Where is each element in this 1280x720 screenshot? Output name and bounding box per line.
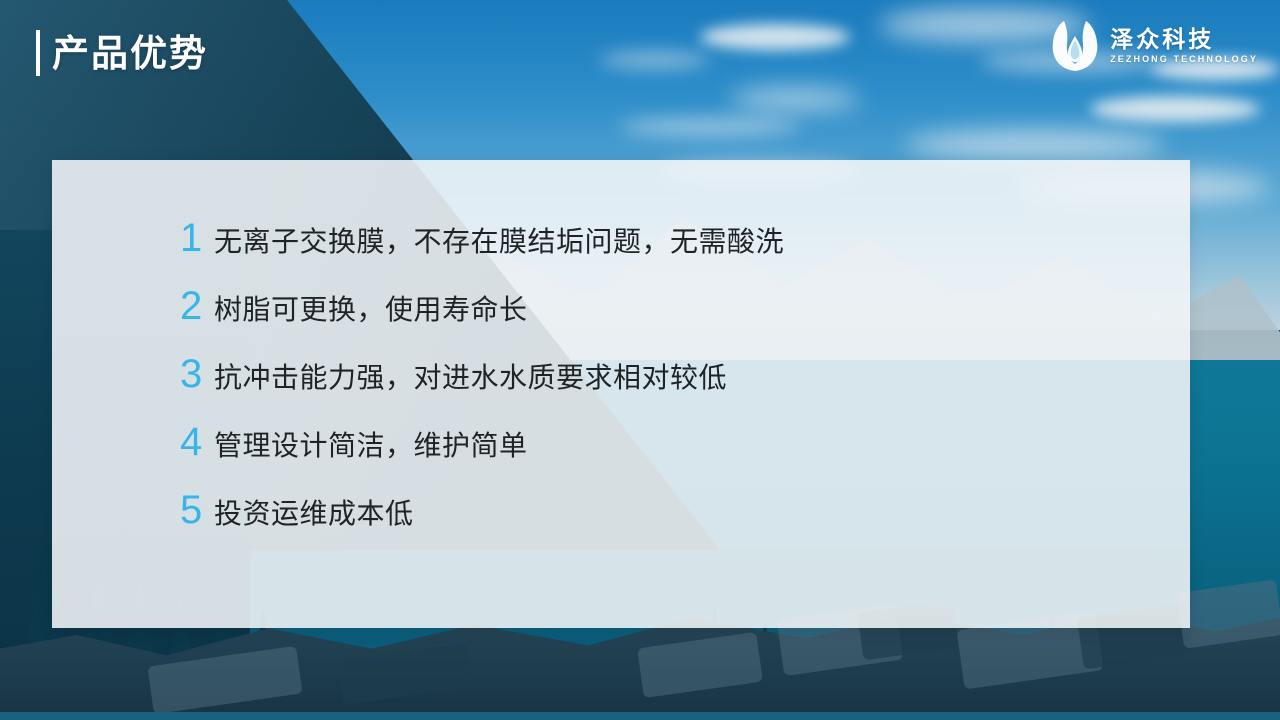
slide: 产品优势 泽众科技 ZEZHONG TECHNOLOGY 1 无离子交换膜，不存… xyxy=(0,0,1280,720)
logo-name-en: ZEZHONG TECHNOLOGY xyxy=(1110,55,1258,65)
list-item-number: 4 xyxy=(180,422,214,462)
logo-name-cn: 泽众科技 xyxy=(1110,27,1258,52)
list-item-text: 无离子交换膜，不存在膜结垢问题，无需酸洗 xyxy=(214,228,784,256)
list-item: 1 无离子交换膜，不存在膜结垢问题，无需酸洗 xyxy=(180,218,1140,286)
slide-header: 产品优势 泽众科技 ZEZHONG TECHNOLOGY xyxy=(0,0,1280,110)
content-panel: 1 无离子交换膜，不存在膜结垢问题，无需酸洗 2 树脂可更换，使用寿命长 3 抗… xyxy=(52,160,1190,628)
advantage-list: 1 无离子交换膜，不存在膜结垢问题，无需酸洗 2 树脂可更换，使用寿命长 3 抗… xyxy=(180,218,1140,558)
list-item-number: 1 xyxy=(180,218,214,258)
list-item-number: 3 xyxy=(180,354,214,394)
list-item-text: 管理设计简洁，维护简单 xyxy=(214,432,528,460)
list-item-text: 树脂可更换，使用寿命长 xyxy=(214,296,528,324)
list-item: 4 管理设计简洁，维护简单 xyxy=(180,422,1140,490)
title-block: 产品优势 xyxy=(36,30,208,76)
company-logo: 泽众科技 ZEZHONG TECHNOLOGY xyxy=(1050,20,1258,72)
title-accent-bar xyxy=(36,30,40,76)
list-item-number: 2 xyxy=(180,286,214,326)
list-item-text: 抗冲击能力强，对进水水质要求相对较低 xyxy=(214,364,727,392)
lotus-waterdrop-icon xyxy=(1050,20,1100,72)
list-item: 2 树脂可更换，使用寿命长 xyxy=(180,286,1140,354)
logo-text-block: 泽众科技 ZEZHONG TECHNOLOGY xyxy=(1110,27,1258,65)
list-item-text: 投资运维成本低 xyxy=(214,500,414,528)
list-item: 3 抗冲击能力强，对进水水质要求相对较低 xyxy=(180,354,1140,422)
page-title: 产品优势 xyxy=(52,35,208,72)
list-item: 5 投资运维成本低 xyxy=(180,490,1140,558)
list-item-number: 5 xyxy=(180,490,214,530)
